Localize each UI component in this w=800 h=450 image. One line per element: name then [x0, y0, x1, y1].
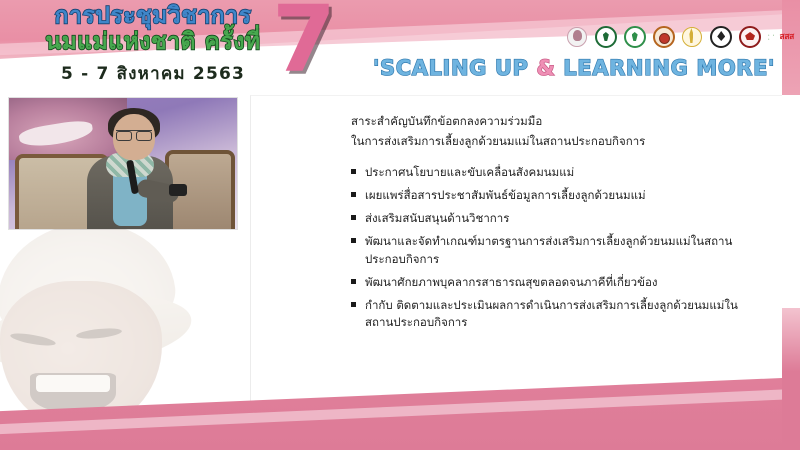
logo-red-garuda-crest-icon: [739, 26, 761, 48]
partner-logos-row: • • • สสส: [566, 24, 794, 50]
slide-body: สาระสำคัญบันทึกข้อตกลงความร่วมมือ ในการส…: [0, 95, 800, 450]
list-item: พัฒนาและจัดทำเกณฑ์มาตรฐานการส่งเสริมการเ…: [351, 233, 761, 268]
conference-title-line2: นมแม่แห่งชาติ ครั้งที่: [18, 30, 288, 56]
logo-department-health-icon: [624, 26, 646, 48]
list-item: เผยแพร่สื่อสารประชาสัมพันธ์ข้อมูลการเลี้…: [351, 187, 761, 204]
list-item-label: พัฒนาศักยภาพบุคลากรสาธารณสุขตลอดจนภาคีที…: [365, 274, 761, 291]
content-bullet-list: ประกาศนโยบายและขับเคลื่อนสังคมนมแม่ เผยแ…: [351, 164, 761, 332]
content-inner: สาระสำคัญบันทึกข้อตกลงความร่วมมือ ในการส…: [351, 112, 761, 338]
conference-title-block: การประชุมวิชาการ นมแม่แห่งชาติ ครั้งที่ …: [18, 4, 288, 87]
list-item-label: กำกับ ติดตามและประเมินผลการดำเนินการส่งเ…: [365, 297, 761, 332]
tagline-ampersand: &: [536, 56, 555, 80]
bullet-square-icon: [351, 238, 356, 243]
list-item-label: พัฒนาและจัดทำเกณฑ์มาตรฐานการส่งเสริมการเ…: [365, 233, 761, 268]
logo-royal-crest-gold-icon: [681, 26, 703, 48]
right-edge-strip: [782, 95, 800, 450]
list-item: พัฒนาศักยภาพบุคลากรสาธารณสุขตลอดจนภาคีที…: [351, 274, 761, 291]
content-heading-line-2: ในการส่งเสริมการเลี้ยงลูกด้วยนมแม่ในสถาน…: [351, 132, 761, 152]
conference-date: 5 - 7 สิงหาคม 2563: [18, 60, 288, 87]
watermark-teeth: [36, 375, 110, 392]
content-panel: สาระสำคัญบันทึกข้อตกลงความร่วมมือ ในการส…: [250, 95, 783, 412]
content-heading-line-1: สาระสำคัญบันทึกข้อตกลงความร่วมมือ: [351, 112, 761, 132]
logo-royal-emblem-orange-icon: [653, 26, 675, 48]
logo-thaihealth-sss-icon: • • • สสส: [768, 26, 794, 48]
slide-stage: การประชุมวิชาการ นมแม่แห่งชาติ ครั้งที่ …: [0, 0, 800, 450]
logo-black-circle-crest-icon: [710, 26, 732, 48]
conference-title-line1: การประชุมวิชาการ: [18, 4, 288, 29]
list-item: ประกาศนโยบายและขับเคลื่อนสังคมนมแม่: [351, 164, 761, 181]
bullet-square-icon: [351, 279, 356, 284]
tagline-part-one: 'SCALING UP: [373, 56, 537, 80]
logo-ministry-public-health-green-icon: [595, 26, 617, 48]
bullet-square-icon: [351, 192, 356, 197]
bullet-square-icon: [351, 169, 356, 174]
presenter-clicker-icon: [169, 184, 187, 196]
list-item: กำกับ ติดตามและประเมินผลการดำเนินการส่งเ…: [351, 297, 761, 332]
logo-thai-pediatric-society-icon: [566, 26, 588, 48]
list-item-label: ส่งเสริมสนับสนุนด้านวิชาการ: [365, 210, 761, 227]
sss-logo-text: สสส: [780, 33, 794, 42]
bullet-square-icon: [351, 215, 356, 220]
list-item-label: ประกาศนโยบายและขับเคลื่อนสังคมนมแม่: [365, 164, 761, 181]
tagline-part-two: LEARNING MORE': [555, 56, 775, 80]
conference-tagline: 'SCALING UP & LEARNING MORE': [356, 58, 792, 79]
list-item-label: เผยแพร่สื่อสารประชาสัมพันธ์ข้อมูลการเลี้…: [365, 187, 761, 204]
list-item: ส่งเสริมสนับสนุนด้านวิชาการ: [351, 210, 761, 227]
bullet-square-icon: [351, 302, 356, 307]
speaker-video-inset[interactable]: [9, 98, 237, 229]
conference-header-banner: การประชุมวิชาการ นมแม่แห่งชาติ ครั้งที่ …: [0, 0, 800, 95]
edition-number: 7: [272, 0, 334, 86]
speaker-glasses-icon: [116, 130, 152, 139]
